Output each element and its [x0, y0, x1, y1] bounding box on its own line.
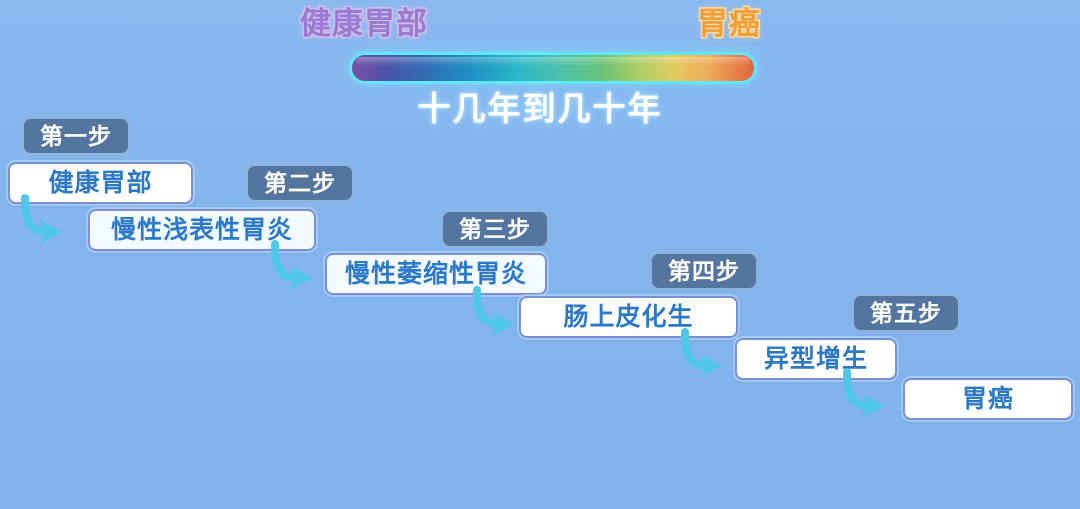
stage-box-4[interactable]: 肠上皮化生	[519, 296, 738, 338]
progression-diagram-canvas: 健康胃部 胃癌 十几年到几十年 第一步健康胃部第二步慢性浅表性胃炎第三步慢性萎缩…	[0, 0, 1080, 509]
step-badge-4: 第四步	[650, 252, 758, 290]
stage-box-5[interactable]: 异型增生	[735, 338, 897, 380]
stage-box-1[interactable]: 健康胃部	[8, 162, 193, 204]
progression-gradient-bar	[352, 55, 754, 81]
timeline-subtitle: 十几年到几十年	[0, 92, 1080, 125]
step-badge-2: 第二步	[246, 164, 354, 202]
stage-box-3[interactable]: 慢性萎缩性胃炎	[325, 253, 547, 295]
step-badge-1: 第一步	[22, 117, 130, 155]
step-badge-3: 第三步	[441, 210, 549, 248]
step-badge-5: 第五步	[852, 294, 960, 332]
header-label-healthy-stomach: 健康胃部	[300, 8, 428, 39]
stage-box-2[interactable]: 慢性浅表性胃炎	[88, 209, 316, 251]
header-label-gastric-cancer: 胃癌	[697, 8, 761, 39]
stage-box-6[interactable]: 胃癌	[903, 378, 1073, 420]
